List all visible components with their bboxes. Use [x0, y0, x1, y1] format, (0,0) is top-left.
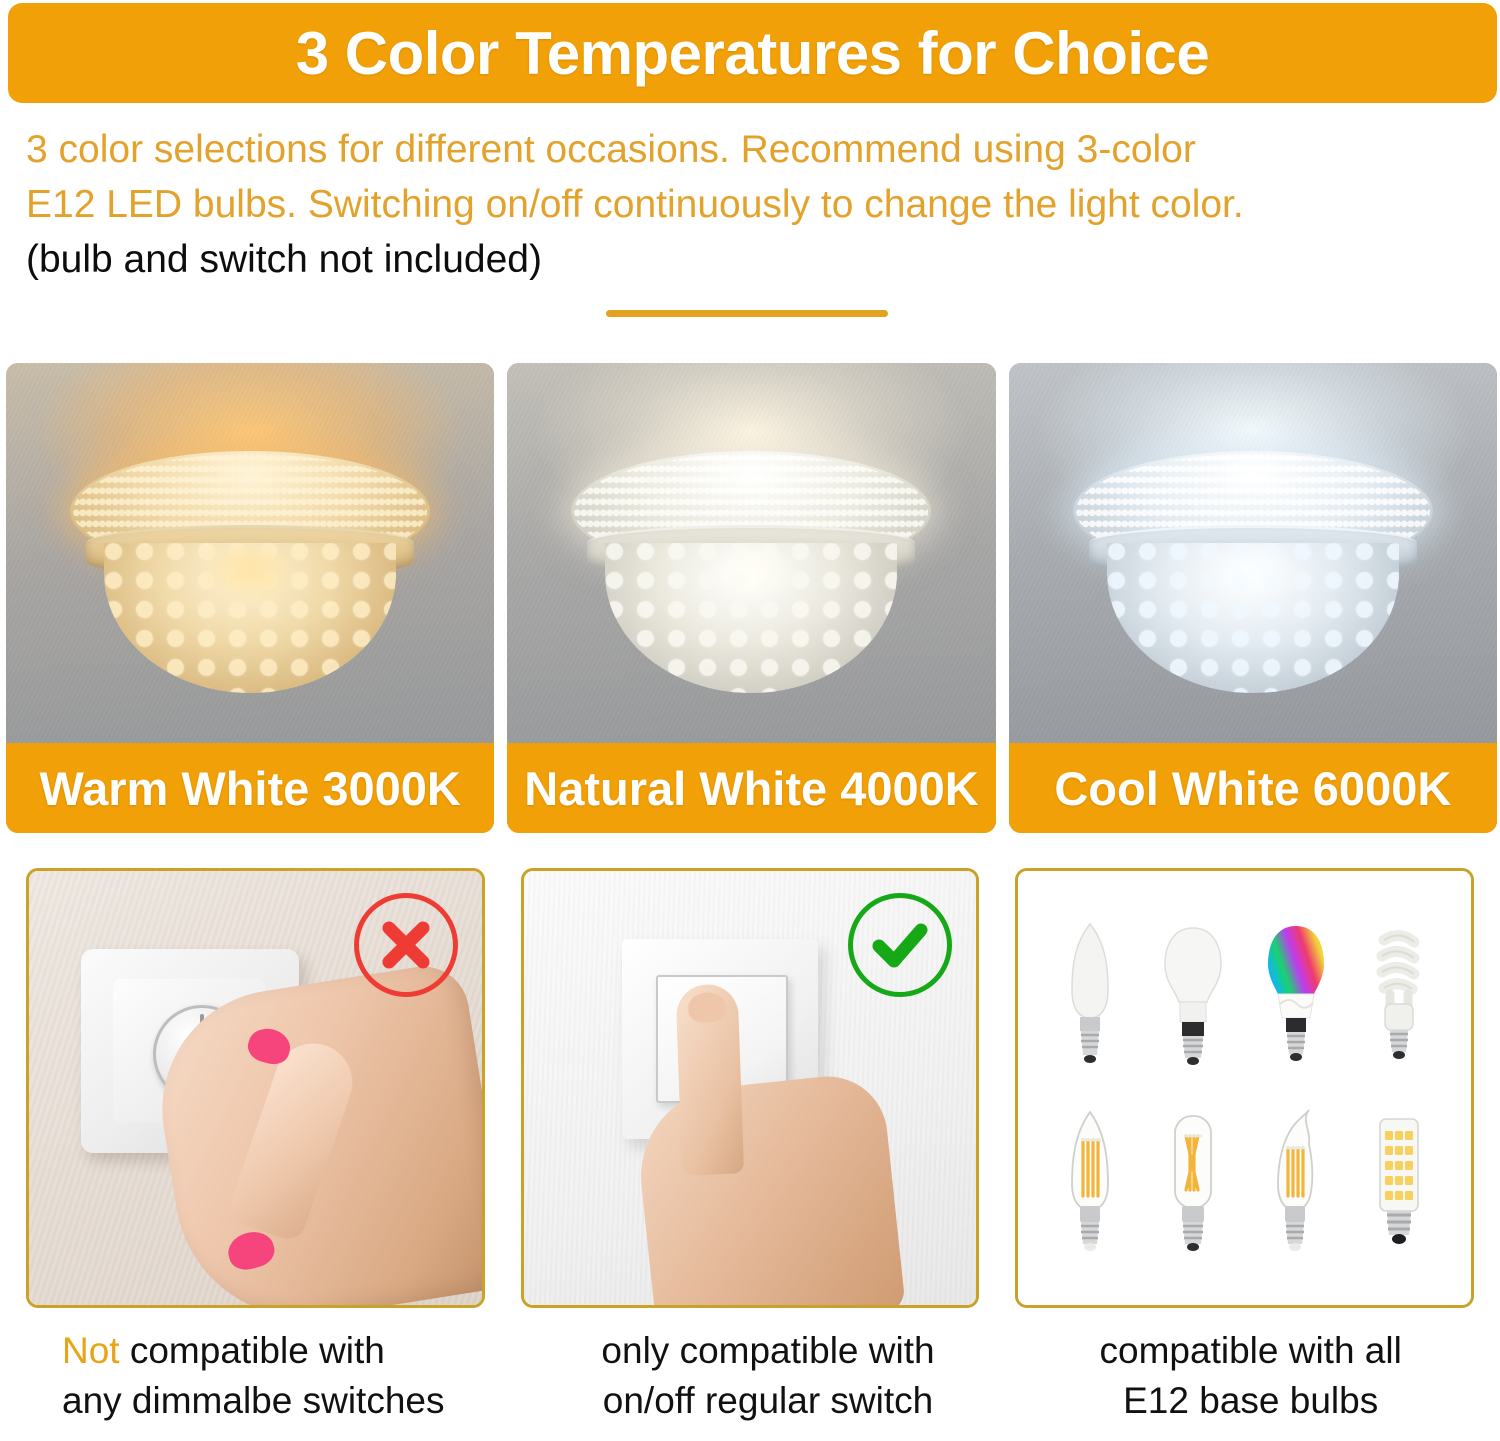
bulb-filament-flame-tip	[1245, 1088, 1348, 1279]
caption-line-2: any dimmalbe switches	[62, 1380, 444, 1421]
caption-lead-word: Not	[62, 1330, 120, 1371]
product-photo-cool-white	[1009, 363, 1497, 743]
temperature-card-natural-white[interactable]: Natural White 4000K	[507, 363, 995, 833]
red-x-icon	[354, 893, 458, 997]
caption-rest: compatible with all	[1100, 1330, 1402, 1371]
bulb-spiral-cfl	[1348, 897, 1451, 1088]
intro-line-2: E12 LED bulbs. Switching on/off continuo…	[26, 177, 1456, 232]
temperature-card-cool-white[interactable]: Cool White 6000K	[1009, 363, 1497, 833]
bulb-filament-tubular	[1142, 1088, 1245, 1279]
crystal-light-icon	[571, 451, 931, 701]
caption-line-2: on/off regular switch	[603, 1380, 933, 1421]
caption-rocker: only compatible with on/off regular swit…	[545, 1318, 992, 1438]
compatibility-row	[26, 868, 1474, 1308]
bulb-led-corn	[1348, 1088, 1451, 1279]
index-finger	[225, 1033, 363, 1244]
bulb-filament-candle	[1038, 1088, 1141, 1279]
temperature-card-warm-white[interactable]: Warm White 3000K	[6, 363, 494, 833]
section-divider	[606, 310, 888, 317]
intro-line-1: 3 color selections for different occasio…	[26, 122, 1456, 177]
caption-bulbs: compatible with all E12 base bulbs	[1027, 1318, 1474, 1438]
page-title: 3 Color Temperatures for Choice	[296, 19, 1210, 88]
fingernail	[224, 1227, 278, 1274]
compat-card-dimmer[interactable]	[26, 868, 485, 1308]
caption-line-2: E12 base bulbs	[1123, 1380, 1378, 1421]
bulb-rgb-color-changing	[1245, 897, 1348, 1088]
intro-paragraph: 3 color selections for different occasio…	[26, 122, 1456, 287]
bulb-frosted-candle	[1038, 897, 1141, 1088]
index-finger	[675, 983, 744, 1175]
caption-rest: only compatible with	[601, 1330, 934, 1371]
color-temperature-row: Warm White 3000K Natural White 4000K	[6, 363, 1497, 833]
green-check-icon	[848, 893, 952, 997]
crystal-light-icon	[1073, 451, 1433, 701]
crystal-light-icon	[70, 451, 430, 701]
bulb-frosted-globe	[1142, 897, 1245, 1088]
caption-dimmer: Not compatible with any dimmalbe switche…	[26, 1318, 509, 1438]
temperature-caption-natural-white: Natural White 4000K	[507, 743, 995, 833]
compatibility-caption-row: Not compatible with any dimmalbe switche…	[26, 1318, 1474, 1438]
temperature-caption-warm-white: Warm White 3000K	[6, 743, 494, 833]
temperature-label: Warm White 3000K	[39, 761, 460, 816]
product-photo-warm-white	[6, 363, 494, 743]
temperature-label: Cool White 6000K	[1054, 761, 1451, 816]
temperature-caption-cool-white: Cool White 6000K	[1009, 743, 1497, 833]
temperature-label: Natural White 4000K	[524, 761, 978, 816]
compat-card-rocker[interactable]	[521, 868, 980, 1308]
product-photo-natural-white	[507, 363, 995, 743]
intro-line-3: (bulb and switch not included)	[26, 232, 1456, 287]
compat-card-bulbs[interactable]	[1015, 868, 1474, 1308]
bulb-assortment-grid	[1018, 871, 1471, 1305]
caption-rest: compatible with	[120, 1330, 385, 1371]
header-banner: 3 Color Temperatures for Choice	[8, 3, 1497, 103]
